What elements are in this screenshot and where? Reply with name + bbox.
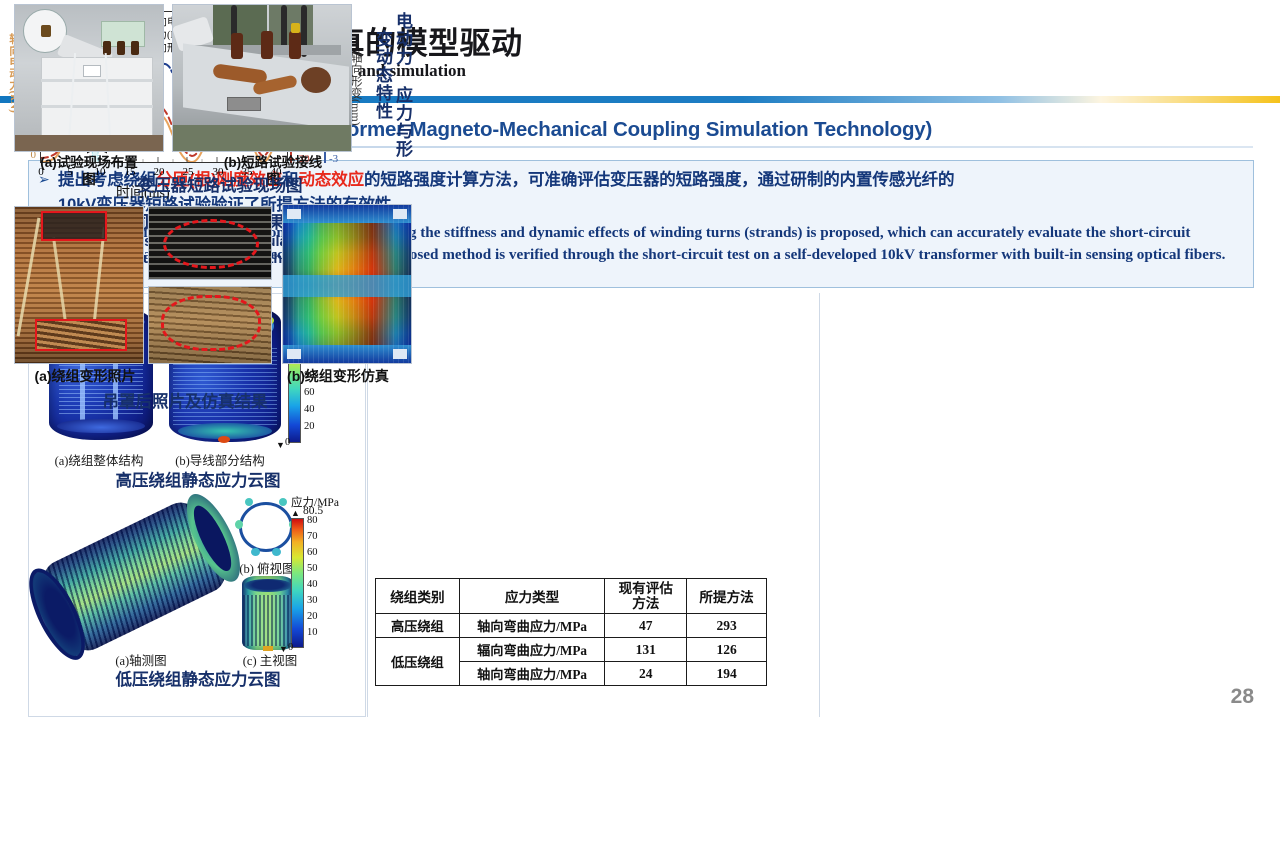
triangle-down-icon: ▼ (276, 440, 285, 450)
hv-colorbar-min: 0 (285, 437, 290, 448)
rt-caption-a-1: (a)试验现场布置 (14, 154, 164, 171)
th-group: 绕组类别 (376, 579, 460, 614)
th-existing: 现有评估 方法 (605, 579, 687, 614)
photo-short-circuit-wiring (172, 4, 352, 152)
table-header-row: 绕组类别 应力类型 现有评估 方法 所提方法 (376, 579, 767, 614)
cell-proposed-1: 126 (687, 638, 767, 662)
photo-deformation-zoom-bottom (148, 286, 272, 364)
cell-proposed-0: 293 (687, 614, 767, 638)
lv-colorbar-min: 0 (288, 642, 293, 653)
cell-type-1: 辐向弯曲应力/MPa (459, 638, 605, 662)
lv-top-view (235, 498, 297, 556)
photo-deformation-zoom-top (148, 206, 272, 280)
figure-winding-deformation-simulation (282, 204, 412, 364)
rb-figure-title: 吊罩后照片及仿真结果 (40, 388, 330, 412)
vertical-label-col2: 变动态特性 (370, 30, 395, 170)
th-type: 应力类型 (459, 579, 605, 614)
cell-type-2: 轴向弯曲应力/MPa (459, 662, 605, 686)
lv-front-view (242, 576, 294, 650)
rt-figure-title: 变压器短路试验现场图 (80, 172, 360, 196)
triangle-up-icon: ▲ (291, 508, 300, 518)
lv-figure-title: 低压绕组静态应力云图 (29, 666, 367, 690)
rt-caption-b-1: (b)短路试验接线 (198, 154, 348, 171)
callout-cn-seg3: 的短路强度计算方法，可准确评估变压器的短路强度，通过研制的内置传感光纤的 (364, 171, 954, 189)
table-row: 低压绕组 辐向弯曲应力/MPa 131 126 (376, 638, 767, 662)
cell-type-0: 轴向弯曲应力/MPa (459, 614, 605, 638)
cell-existing-2: 24 (605, 662, 687, 686)
rb-caption-a: (a)绕组变形照片 (10, 366, 160, 386)
stress-comparison-table: 绕组类别 应力类型 现有评估 方法 所提方法 高压绕组 轴向弯曲应力/MPa 4… (375, 578, 767, 686)
lv-colorbar-gradient (291, 518, 304, 648)
triangle-down-icon: ▼ (279, 644, 288, 654)
cell-group-lv: 低压绕组 (376, 638, 460, 686)
photo-winding-deformation (14, 206, 144, 364)
page-number: 28 (1231, 685, 1254, 709)
cell-group-hv: 高压绕组 (376, 614, 460, 638)
cell-proposed-2: 194 (687, 662, 767, 686)
panel-divider-right (819, 293, 820, 717)
cell-existing-1: 131 (605, 638, 687, 662)
rb-caption-b: (b)绕组变形仿真 (258, 366, 418, 386)
cell-existing-0: 47 (605, 614, 687, 638)
table-row: 高压绕组 轴向弯曲应力/MPa 47 293 (376, 614, 767, 638)
th-proposed: 所提方法 (687, 579, 767, 614)
photo-test-site (14, 4, 164, 152)
